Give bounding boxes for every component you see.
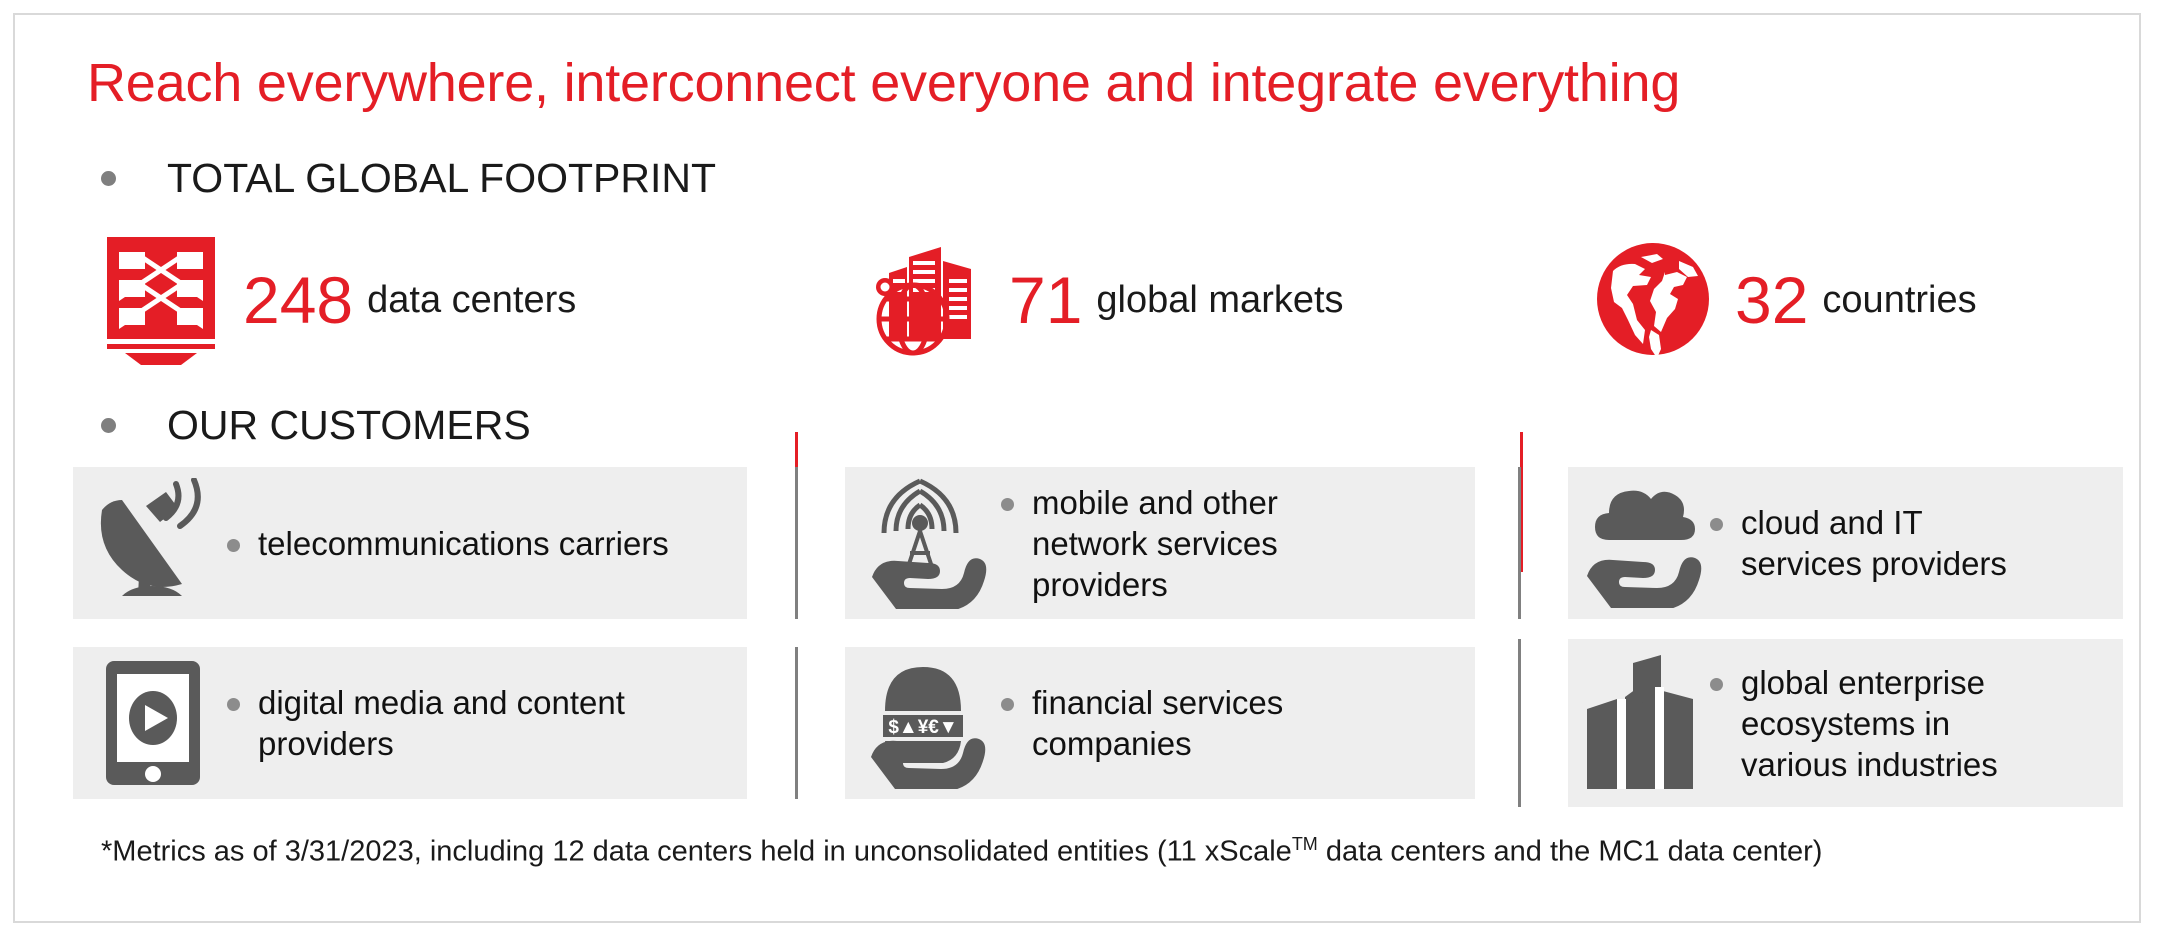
customer-card-text: telecommunications carriers <box>227 523 669 564</box>
footnote-prefix: *Metrics as of 3/31/2023, including 12 d… <box>101 836 1292 868</box>
stat-unit: countries <box>1822 279 1976 321</box>
section-heading-customers: OUR CUSTOMERS <box>101 402 531 448</box>
stat-countries: 32 countries <box>1593 220 1977 380</box>
cards-divider-1 <box>795 467 798 619</box>
stat-unit: global markets <box>1096 279 1343 321</box>
bullet-icon <box>227 698 240 711</box>
footnote-suffix: data centers and the MC1 data center) <box>1318 836 1823 868</box>
customer-card-label: telecommunications carriers <box>258 523 669 564</box>
bullet-icon <box>1710 518 1723 531</box>
bullet-icon <box>1710 678 1723 691</box>
customer-card-telecommunications: telecommunications carriers <box>73 467 747 619</box>
page-title: Reach everywhere, interconnect everyone … <box>87 53 1680 113</box>
globe-buildings-icon <box>867 235 987 365</box>
world-globe-icon <box>1593 235 1713 365</box>
stat-global-markets: 71 global markets <box>867 220 1344 380</box>
customer-card-text: global enterprise ecosystems in various … <box>1710 662 1998 785</box>
customer-card-cloud-it: cloud and IT services providers <box>1568 467 2123 619</box>
stat-value: 71 <box>1009 267 1082 333</box>
hand-cell-tower-icon <box>859 477 1001 609</box>
customer-card-label: digital media and content providers <box>258 682 625 764</box>
cards-divider-4 <box>1518 639 1521 807</box>
customer-card-global-enterprise: global enterprise ecosystems in various … <box>1568 639 2123 807</box>
hand-currency-dome-icon: $▲¥€▼ <box>859 657 1001 789</box>
bullet-icon <box>1001 498 1014 511</box>
section-heading-customers-label: OUR CUSTOMERS <box>167 402 531 448</box>
bullet-icon <box>1001 698 1014 711</box>
footnote: *Metrics as of 3/31/2023, including 12 d… <box>101 827 1822 869</box>
cards-divider-2 <box>1518 467 1521 619</box>
bullet-icon <box>227 539 240 552</box>
customer-card-mobile-network: mobile and other network services provid… <box>845 467 1475 619</box>
stat-value: 32 <box>1735 267 1808 333</box>
stat-unit: data centers <box>367 279 576 321</box>
customer-card-digital-media: digital media and content providers <box>73 647 747 799</box>
tablet-play-icon <box>79 657 227 789</box>
customer-card-label: financial services companies <box>1032 682 1283 764</box>
section-heading-footprint-label: TOTAL GLOBAL FOOTPRINT <box>167 155 716 201</box>
footnote-trademark: TM <box>1292 834 1318 854</box>
stat-value: 248 <box>243 267 353 333</box>
customer-card-text: financial services companies <box>1001 682 1283 764</box>
svg-text:$▲¥€▼: $▲¥€▼ <box>888 717 957 738</box>
section-heading-footprint: TOTAL GLOBAL FOOTPRINT <box>101 155 716 201</box>
skyscrapers-icon <box>1578 653 1710 793</box>
customer-card-label: global enterprise ecosystems in various … <box>1741 662 1998 785</box>
customer-card-label: cloud and IT services providers <box>1741 502 2007 584</box>
data-center-icon <box>101 235 221 365</box>
cards-divider-3 <box>795 647 798 799</box>
stat-data-centers: 248 data centers <box>101 220 576 380</box>
hand-cloud-icon <box>1578 478 1710 608</box>
satellite-dish-icon <box>79 478 227 608</box>
customer-card-label: mobile and other network services provid… <box>1032 482 1278 605</box>
bullet-icon <box>101 418 116 433</box>
customer-card-financial-services: $▲¥€▼ financial services companies <box>845 647 1475 799</box>
slide-canvas: Reach everywhere, interconnect everyone … <box>13 13 2141 923</box>
stats-row: 248 data centers <box>15 220 2139 380</box>
bullet-icon <box>101 171 116 186</box>
customer-card-text: cloud and IT services providers <box>1710 502 2007 584</box>
customer-card-text: mobile and other network services provid… <box>1001 482 1278 605</box>
customer-card-text: digital media and content providers <box>227 682 625 764</box>
